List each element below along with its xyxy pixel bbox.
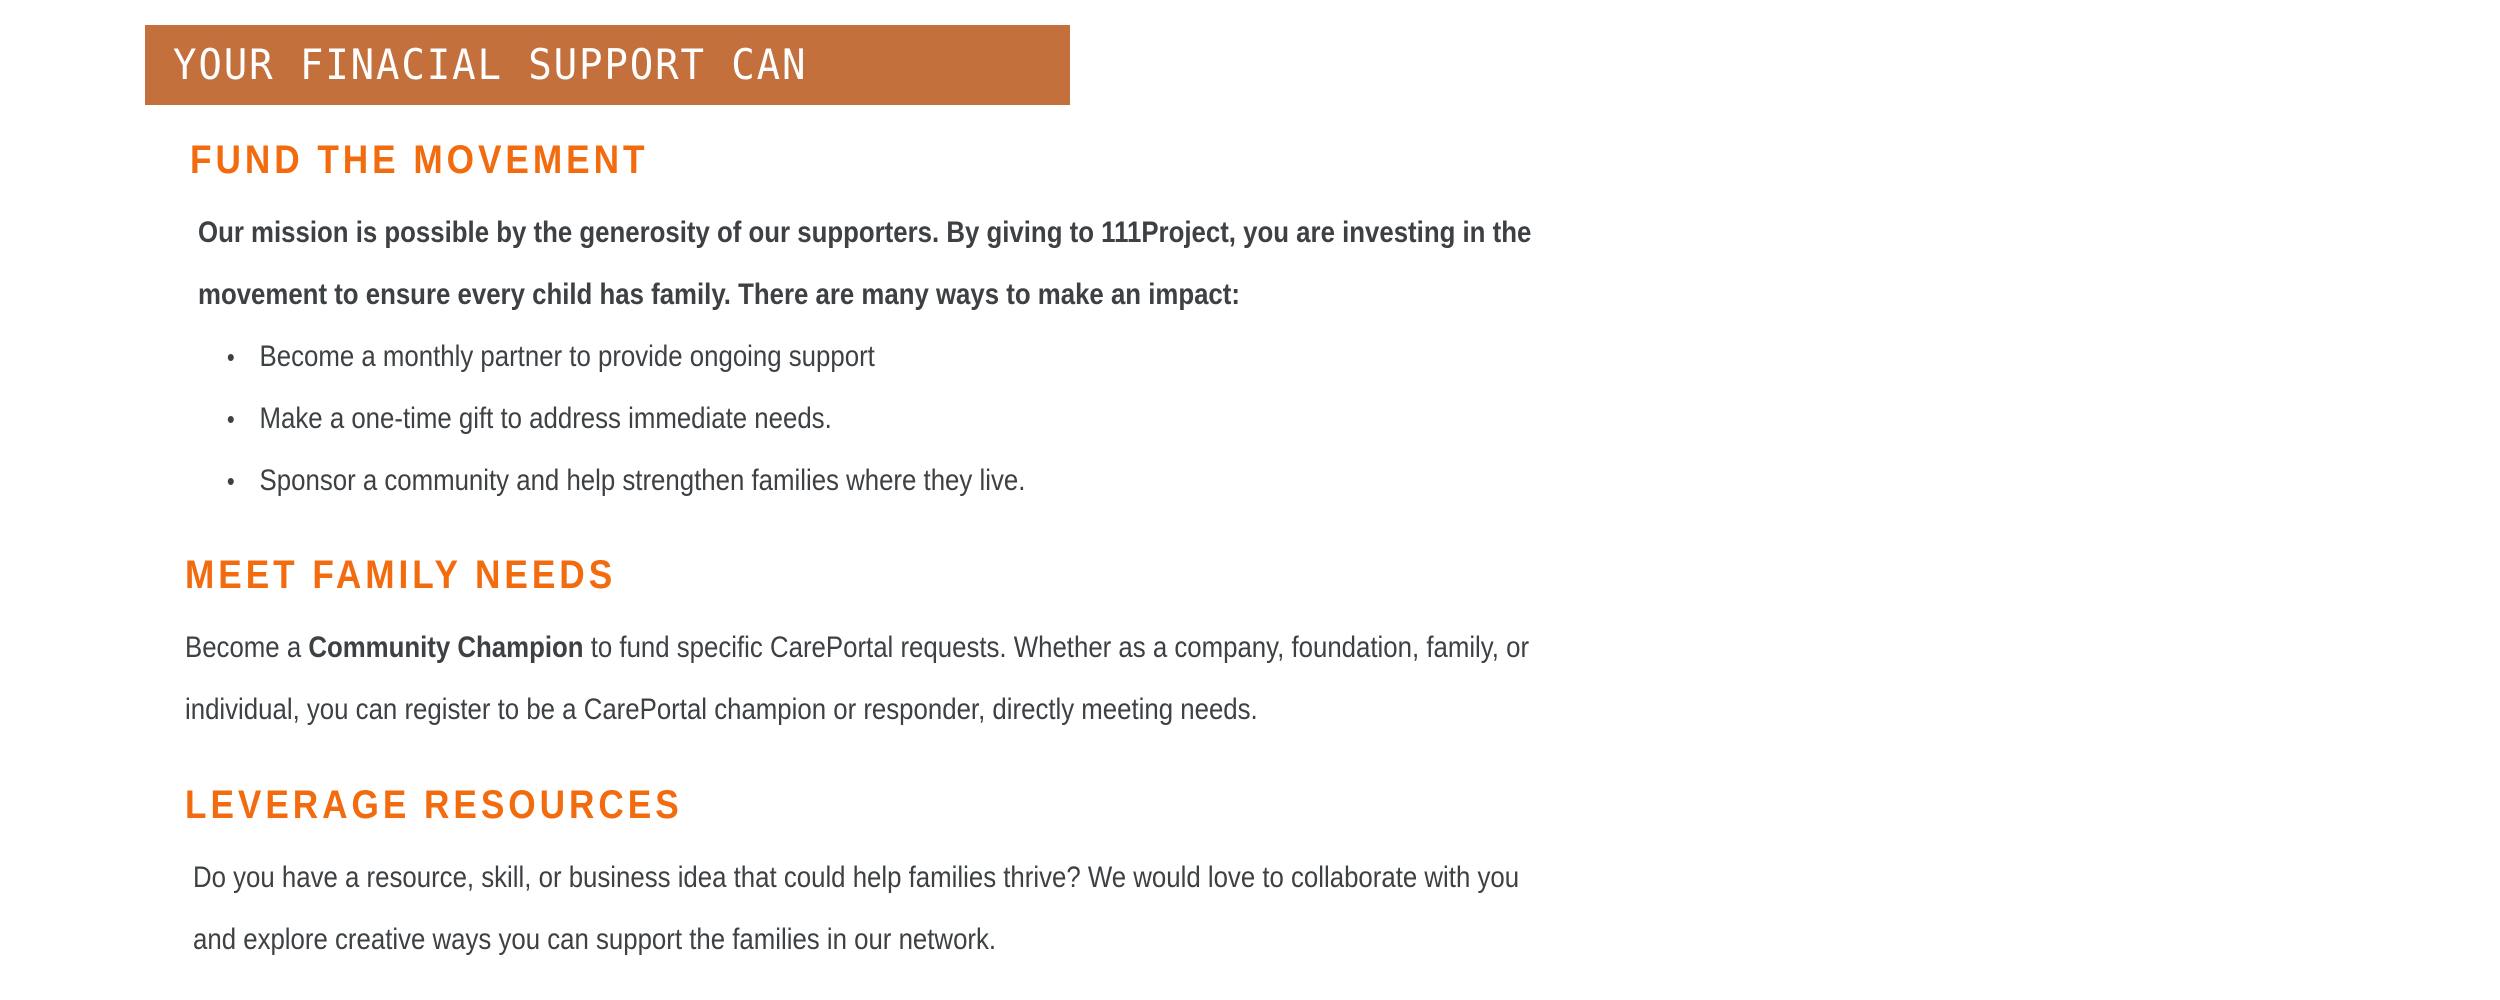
heading-fund-the-movement: FUND THE MOVEMENT <box>190 140 1561 180</box>
section-fund-the-movement: FUND THE MOVEMENT Our mission is possibl… <box>190 140 1748 512</box>
list-fund-ways-to-give: Become a monthly partner to provide ongo… <box>220 326 1748 512</box>
list-item: Make a one-time gift to address immediat… <box>220 388 1534 450</box>
list-item: Sponsor a community and help strengthen … <box>220 450 1534 512</box>
heading-leverage-resources: LEVERAGE RESOURCES <box>185 785 1549 825</box>
section-meet-family-needs: MEET FAMILY NEEDS Become a Community Cha… <box>185 555 1748 741</box>
paragraph-line: movement to ensure every child has famil… <box>198 264 1531 326</box>
paragraph-leverage-resources: Do you have a resource, skill, or busine… <box>193 847 1735 971</box>
paragraph-line: Our mission is possible by the generosit… <box>198 202 1531 264</box>
paragraph-line: and explore creative ways you can suppor… <box>193 909 1519 971</box>
section-banner: YOUR FINACIAL SUPPORT CAN <box>145 25 1070 105</box>
paragraph-fund-the-movement: Our mission is possible by the generosit… <box>198 202 1748 326</box>
list-item: Become a monthly partner to provide ongo… <box>220 326 1534 388</box>
heading-meet-family-needs: MEET FAMILY NEEDS <box>185 555 1560 595</box>
paragraph-line: individual, you can register to be a Car… <box>185 679 1529 741</box>
paragraph-line: Become a Community Champion to fund spec… <box>185 617 1529 679</box>
paragraph-text-pre: Become a <box>185 631 308 664</box>
paragraph-line: Do you have a resource, skill, or busine… <box>193 847 1519 909</box>
page-root: YOUR FINACIAL SUPPORT CAN FUND THE MOVEM… <box>0 0 2500 1000</box>
section-leverage-resources: LEVERAGE RESOURCES Do you have a resourc… <box>185 785 1735 971</box>
paragraph-emphasis-community-champion: Community Champion <box>308 631 583 664</box>
paragraph-text-post: to fund specific CarePortal requests. Wh… <box>584 631 1530 664</box>
banner-title: YOUR FINACIAL SUPPORT CAN <box>173 44 807 86</box>
paragraph-meet-family-needs: Become a Community Champion to fund spec… <box>185 617 1748 741</box>
